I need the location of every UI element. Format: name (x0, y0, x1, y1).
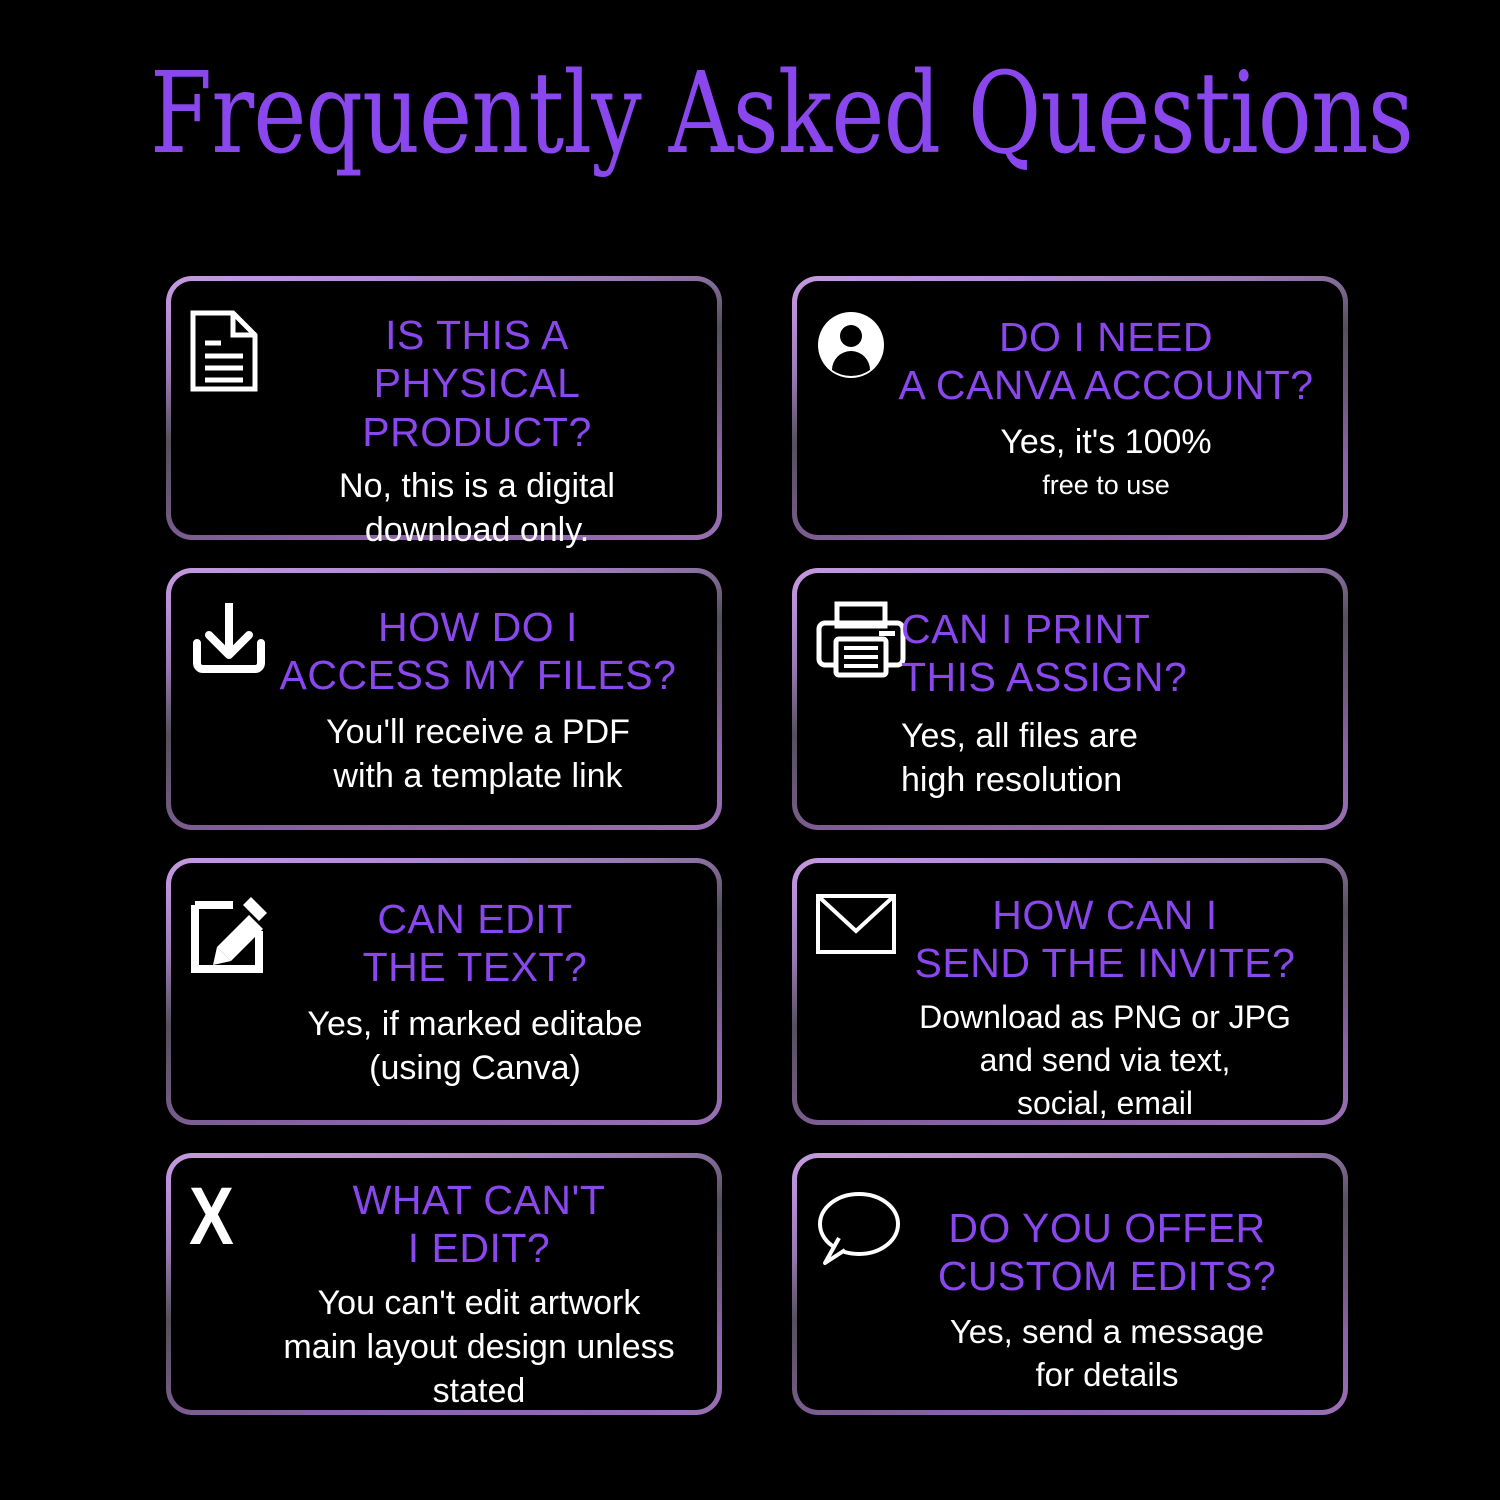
answer-text: Yes, all files are high resolution (901, 714, 1138, 802)
question-text: DO YOU OFFER CUSTOM EDITS? (938, 1204, 1276, 1301)
page-title: Frequently Asked Questions (150, 58, 1350, 170)
answer-text: No, this is a digital download only. (339, 464, 615, 552)
question-text: IS THIS A PHYSICAL PRODUCT? (255, 311, 699, 456)
question-text: WHAT CAN'T I EDIT? (353, 1176, 606, 1273)
question-text: HOW CAN I SEND THE INVITE? (915, 891, 1296, 988)
x-mark-glyph: X (189, 1178, 234, 1256)
card-inner: HOW DO I ACCESS MY FILES? You'll receive… (171, 573, 717, 825)
card-inner: CAN I PRINT THIS ASSIGN? Yes, all files … (797, 573, 1343, 825)
faq-card-physical-product[interactable]: IS THIS A PHYSICAL PRODUCT? No, this is … (166, 276, 722, 540)
faq-card-grid: IS THIS A PHYSICAL PRODUCT? No, this is … (166, 276, 1348, 1415)
faq-card-send-invite[interactable]: HOW CAN I SEND THE INVITE? Download as P… (792, 858, 1348, 1125)
answer-text: Yes, if marked editabe (using Canva) (307, 1002, 642, 1090)
qa-block: HOW CAN I SEND THE INVITE? Download as P… (885, 879, 1325, 1125)
qa-block: DO I NEED A CANVA ACCOUNT? Yes, it's 100… (887, 297, 1325, 503)
faq-card-access-files[interactable]: HOW DO I ACCESS MY FILES? You'll receive… (166, 568, 722, 830)
faq-card-print[interactable]: CAN I PRINT THIS ASSIGN? Yes, all files … (792, 568, 1348, 830)
qa-block: CAN I PRINT THIS ASSIGN? Yes, all files … (901, 589, 1325, 802)
faq-card-custom-edits[interactable]: DO YOU OFFER CUSTOM EDITS? Yes, send a m… (792, 1153, 1348, 1415)
card-inner: DO I NEED A CANVA ACCOUNT? Yes, it's 100… (797, 281, 1343, 535)
question-text: DO I NEED A CANVA ACCOUNT? (898, 313, 1313, 410)
qa-block: DO YOU OFFER CUSTOM EDITS? Yes, send a m… (889, 1174, 1325, 1397)
answer-text-secondary: free to use (1042, 468, 1170, 503)
faq-card-canva-account[interactable]: DO I NEED A CANVA ACCOUNT? Yes, it's 100… (792, 276, 1348, 540)
printer-icon (815, 589, 911, 679)
card-inner: HOW CAN I SEND THE INVITE? Download as P… (797, 863, 1343, 1120)
faq-card-cannot-edit[interactable]: X WHAT CAN'T I EDIT? You can't edit artw… (166, 1153, 722, 1415)
answer-text: Download as PNG or JPG and send via text… (919, 996, 1291, 1126)
question-text: CAN EDIT THE TEXT? (363, 895, 588, 992)
answer-text: You'll receive a PDF with a template lin… (326, 710, 630, 798)
question-text: HOW DO I ACCESS MY FILES? (280, 603, 677, 700)
answer-text: Yes, it's 100% (1000, 420, 1211, 464)
qa-block: CAN EDIT THE TEXT? Yes, if marked editab… (251, 879, 699, 1090)
card-inner: DO YOU OFFER CUSTOM EDITS? Yes, send a m… (797, 1158, 1343, 1410)
card-inner: IS THIS A PHYSICAL PRODUCT? No, this is … (171, 281, 717, 535)
card-inner: X WHAT CAN'T I EDIT? You can't edit artw… (171, 1158, 717, 1410)
qa-block: IS THIS A PHYSICAL PRODUCT? No, this is … (255, 297, 699, 553)
faq-page: Frequently Asked Questions IS THIS A PHY (0, 0, 1500, 1500)
qa-block: WHAT CAN'T I EDIT? You can't edit artwor… (259, 1174, 699, 1413)
card-inner: CAN EDIT THE TEXT? Yes, if marked editab… (171, 863, 717, 1120)
question-text: CAN I PRINT THIS ASSIGN? (901, 605, 1187, 702)
answer-text: You can't edit artwork main layout desig… (283, 1281, 674, 1414)
faq-card-edit-text[interactable]: CAN EDIT THE TEXT? Yes, if marked editab… (166, 858, 722, 1125)
answer-text: Yes, send a message for details (950, 1311, 1264, 1397)
qa-block: HOW DO I ACCESS MY FILES? You'll receive… (257, 589, 699, 798)
